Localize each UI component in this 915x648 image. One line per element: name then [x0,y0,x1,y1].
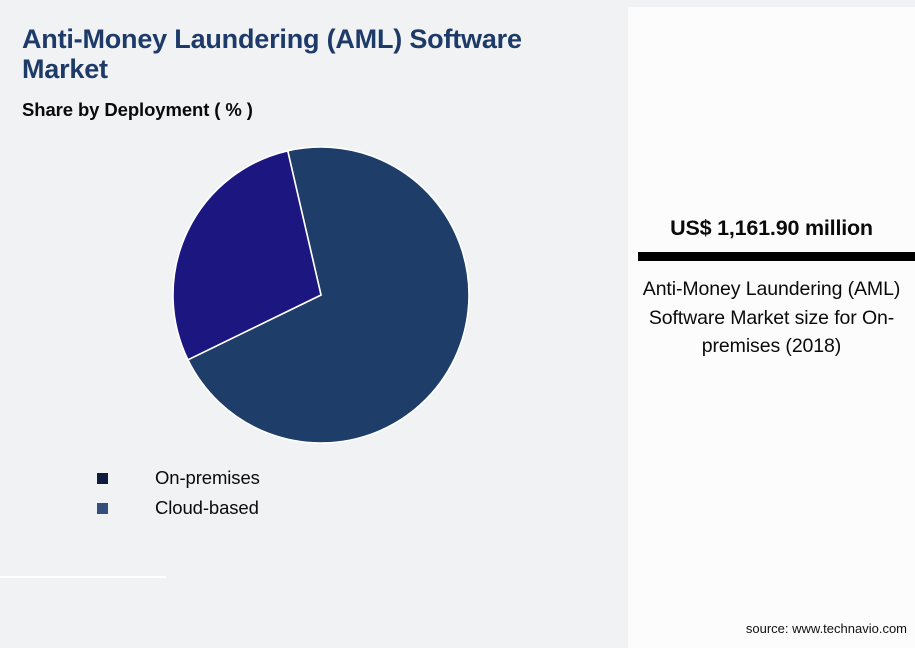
chart-legend: On-premises Cloud-based [97,463,457,523]
chart-panel: Anti-Money Laundering (AML) Software Mar… [0,0,620,648]
kpi-underline [638,252,915,261]
pie-chart-svg [172,146,470,444]
legend-swatch-cloud-based [97,503,108,514]
kpi-caption: Anti-Money Laundering (AML) Software Mar… [638,275,905,361]
pie-chart [172,146,470,444]
kpi-value: US$ 1,161.90 million [628,216,915,241]
legend-swatch-on-premises [97,473,108,484]
source-note: source: www.technavio.com [628,621,907,636]
kpi-panel: US$ 1,161.90 million Anti-Money Launderi… [628,7,915,648]
chart-subtitle: Share by Deployment ( % ) [22,99,253,121]
legend-item-cloud-based[interactable]: Cloud-based [97,493,457,523]
chart-infographic: Anti-Money Laundering (AML) Software Mar… [0,0,915,648]
footer-divider [0,576,166,578]
page-title: Anti-Money Laundering (AML) Software Mar… [22,24,582,84]
legend-label-on-premises: On-premises [155,467,260,489]
legend-item-on-premises[interactable]: On-premises [97,463,457,493]
legend-label-cloud-based: Cloud-based [155,497,259,519]
